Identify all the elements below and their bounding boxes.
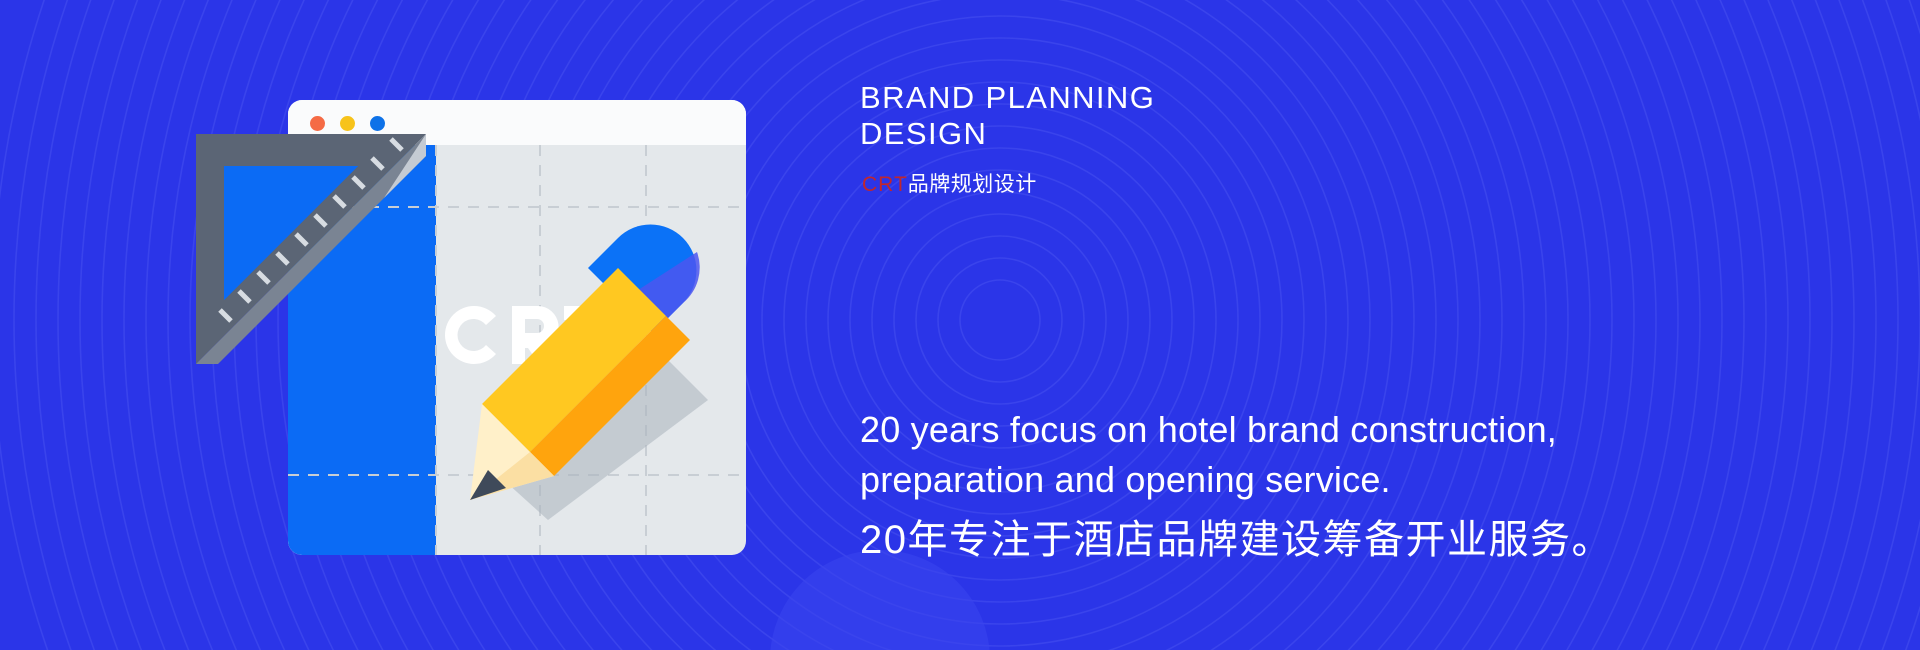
brand-banner: BRAND PLANNING DESIGN CRT品牌规划设计 20 years… [0, 0, 1920, 650]
eyebrow-heading: BRAND PLANNING DESIGN [860, 80, 1380, 152]
eyebrow-sub-text: 品牌规划设计 [908, 173, 1037, 196]
eyebrow-subheading: CRT品牌规划设计 [862, 168, 1037, 198]
text-column: BRAND PLANNING DESIGN CRT品牌规划设计 20 years… [860, 0, 1840, 650]
tagline-chinese: 20年专注于酒店品牌建设筹备开业服务。 [860, 513, 1613, 567]
eyebrow-brand-crt: CRT [862, 173, 908, 196]
set-square-ruler-icon [188, 126, 438, 376]
tagline-english: 20 years focus on hotel brand constructi… [860, 405, 1690, 505]
pencil-icon [450, 220, 780, 550]
hero-illustration [230, 60, 830, 580]
